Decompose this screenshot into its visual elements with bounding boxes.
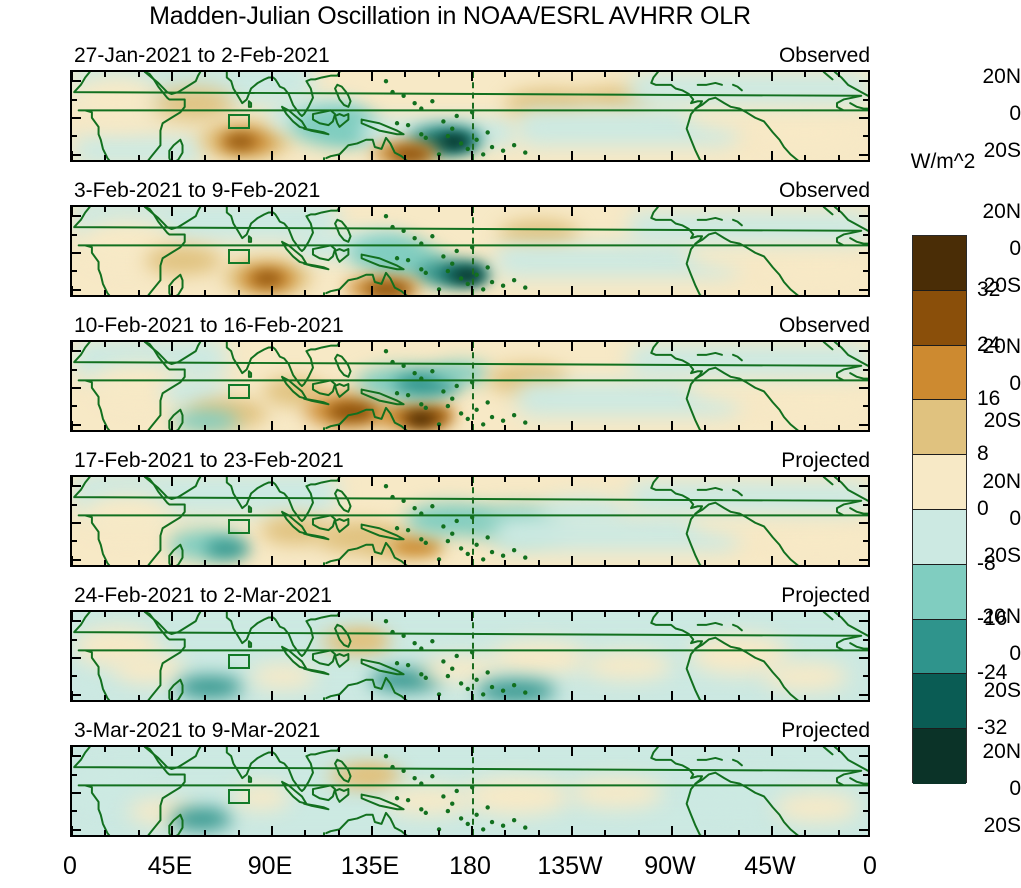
anomaly-blob [772,521,861,554]
x-axis-tick [271,342,273,351]
x-axis-tick [471,826,473,835]
y-axis-tick-label: 0 [957,102,1021,126]
x-axis-tick [204,155,206,160]
x-axis-tick [471,72,473,81]
x-axis-tick [238,72,240,77]
y-axis-tick [72,485,81,487]
x-axis-tick [571,747,573,756]
y-axis-tick [72,289,81,291]
anomaly-blob [392,539,441,556]
x-axis-tick [304,830,306,835]
anomaly-blob [72,765,152,805]
x-axis-tick [404,207,406,212]
y-axis-tick [859,350,868,352]
x-axis-tick [738,695,740,700]
x-axis-tick [604,425,606,430]
x-axis-tick [504,830,506,835]
x-axis-tick [604,290,606,295]
x-axis-tick [538,747,540,752]
x-axis-tick [104,342,106,347]
colorbar-band [913,400,966,455]
anomaly-blob [341,632,381,647]
x-axis-tick [438,155,440,160]
y-axis-tick [72,620,81,622]
x-axis-tick [104,747,106,752]
x-axis-tick [438,695,440,700]
x-axis-tick [238,342,240,347]
map-panel[interactable] [70,70,870,162]
y-axis-tick [72,675,77,677]
y-axis-tick [72,540,77,542]
x-axis-tick [338,72,340,77]
x-axis-tick [304,72,306,77]
x-axis-tick [271,747,273,756]
x-axis-tick [604,477,606,482]
y-axis-tick [72,350,81,352]
x-axis-tick [504,290,506,295]
y-axis-tick [72,810,77,812]
x-axis-tick [671,826,673,835]
y-axis-tick [72,694,81,696]
x-axis-tick [171,342,173,351]
x-axis-tick [271,207,273,216]
y-axis-tick [863,504,868,506]
x-axis-tick [771,477,773,486]
x-axis-tick [838,830,840,835]
x-axis-tick [371,612,373,621]
x-axis-tick [504,747,506,752]
x-axis-tick [504,477,506,482]
x-axis-tick [604,830,606,835]
x-axis-tick [571,342,573,351]
x-axis-tick [671,612,673,621]
colorbar-group: W/m^2 32241680-8-16-24-32 [893,150,1021,810]
x-axis-tick [638,747,640,752]
x-axis-tick [138,747,140,752]
y-axis-tick [72,657,81,659]
y-axis-tick [859,424,868,426]
y-axis-tick [863,675,868,677]
x-axis-tick [338,747,340,752]
y-axis-tick [863,99,868,101]
y-axis-tick [72,829,81,831]
x-axis-tick [704,342,706,347]
x-axis-tick [704,72,706,77]
anomaly-blob [383,786,472,815]
x-axis-tick [338,425,340,430]
anomaly-blob [476,680,556,702]
y-axis-tick [72,270,77,272]
x-axis-tick [504,72,506,77]
anomaly-band [628,72,870,105]
map-panel[interactable] [70,340,870,432]
x-axis-tick [438,477,440,482]
x-axis-tick-label: 45E [148,852,192,881]
x-axis-tick [538,612,540,617]
y-axis-tick [72,755,81,757]
x-axis-tick [338,560,340,565]
y-axis-tick [72,405,77,407]
colorbar-band [913,291,966,346]
x-axis-tick [771,556,773,565]
x-axis-tick [104,477,106,482]
anomaly-blob [145,246,221,275]
x-axis-tick [704,425,706,430]
x-axis-tick [638,290,640,295]
x-axis-tick [271,477,273,486]
x-axis-tick [371,207,373,216]
x-axis-tick [538,207,540,212]
x-axis-tick [538,342,540,347]
x-axis-tick [138,477,140,482]
x-axis-tick [671,477,673,486]
x-axis-tick [271,826,273,835]
x-axis-tick [638,830,640,835]
x-axis-tick [138,830,140,835]
y-axis-tick [859,792,868,794]
x-axis-tick-label: 135E [341,852,399,881]
x-axis-tick [704,477,706,482]
x-axis-tick [704,155,706,160]
x-axis-tick [371,72,373,81]
x-axis-tick [238,477,240,482]
x-axis-tick [604,695,606,700]
x-axis-tick [371,691,373,700]
x-axis-tick [604,207,606,212]
x-axis-tick [204,695,206,700]
x-axis-tick [371,747,373,756]
y-axis-tick [859,694,868,696]
x-axis-tick [104,72,106,77]
x-axis-tick [304,695,306,700]
anomaly-blob [176,676,243,698]
x-axis-tick [338,830,340,835]
x-axis-tick [804,612,806,617]
x-axis-tick [771,691,773,700]
x-axis-tick [804,425,806,430]
x-axis-tick [204,477,206,482]
x-axis-tick [604,155,606,160]
x-axis-tick-label: 135W [537,852,602,881]
x-axis-tick [304,747,306,752]
x-axis-tick [738,747,740,752]
x-axis-tick [371,342,373,351]
x-axis-tick [171,826,173,835]
x-axis-tick [571,612,573,621]
x-axis-tick [471,421,473,430]
x-axis-tick [671,747,673,756]
x-axis-tick [171,72,173,81]
y-axis-tick [863,234,868,236]
x-axis-tick [604,72,606,77]
x-axis-tick [738,612,740,617]
x-axis-tick [338,207,340,212]
x-axis-tick [104,290,106,295]
x-axis-tick [704,695,706,700]
x-axis-tick [804,830,806,835]
dateline-180 [472,207,474,295]
x-axis-tick-label: 0 [63,852,77,881]
colorbar-tick-label: 24 [977,333,1000,357]
x-axis-tick [238,830,240,835]
anomaly-blob [570,778,663,807]
x-axis-tick [538,425,540,430]
x-axis-tick [238,612,240,617]
x-axis-tick [538,560,540,565]
y-axis-tick [72,369,77,371]
x-axis-tick [404,155,406,160]
x-axis-tick [138,560,140,565]
y-axis-tick [859,829,868,831]
anomaly-blob [350,767,390,782]
x-axis-tick [671,151,673,160]
y-axis-tick [72,135,77,137]
x-axis-tick [204,425,206,430]
x-axis-tick [471,286,473,295]
anomaly-blob [690,769,788,809]
x-axis-tick [338,695,340,700]
colorbar-band [913,674,966,729]
x-axis-tick [371,286,373,295]
y-axis-tick [859,387,868,389]
x-axis-tick [838,290,840,295]
x-axis-tick [438,72,440,77]
anomaly-band [628,211,870,244]
x-axis-tick [138,612,140,617]
panel-status-label: Observed [779,44,870,68]
x-axis-tick [171,556,173,565]
x-axis-tick [438,747,440,752]
x-axis-tick [404,560,406,565]
anomaly-blob [72,76,161,124]
x-axis-tick [238,155,240,160]
x-axis-tick [204,207,206,212]
x-axis-tick [404,695,406,700]
y-axis-tick [863,135,868,137]
x-axis-tick [138,695,140,700]
anomaly-blob [154,87,234,120]
x-axis-tick [471,747,473,756]
x-axis-tick [738,155,740,160]
x-axis-tick [671,207,673,216]
map-panel[interactable] [70,610,870,702]
figure-title: Madden-Julian Oscillation in NOAA/ESRL A… [0,2,900,31]
x-axis-tick [504,560,506,565]
x-axis-tick [638,425,640,430]
x-axis-tick [304,477,306,482]
x-axis-tick [138,207,140,212]
anomaly-blob [205,540,249,558]
x-axis-tick [404,477,406,482]
colorbar-tick-label: 32 [977,278,1000,302]
x-axis-tick [504,612,506,617]
x-axis-tick [238,290,240,295]
dateline-180 [472,72,474,160]
y-axis-tick [859,117,868,119]
x-axis-tick [338,342,340,347]
y-axis-tick [72,80,81,82]
x-axis-tick [171,477,173,486]
x-axis-tick [571,72,573,81]
x-axis-tick [438,830,440,835]
x-axis-tick [738,207,740,212]
study-region-box [228,519,250,534]
x-axis-tick [471,342,473,351]
x-axis-tick [771,747,773,756]
x-axis-tick [104,612,106,617]
x-axis-tick [271,556,273,565]
x-axis-tick [738,342,740,347]
x-axis-tick [271,691,273,700]
x-axis-tick [571,826,573,835]
x-axis-tick [704,747,706,752]
colorbar-tick-label: -24 [977,661,1007,685]
x-axis-tick [204,747,206,752]
x-axis-tick [604,560,606,565]
x-axis-tick [771,612,773,621]
x-axis-tick [271,72,273,81]
x-axis-tick [138,72,140,77]
x-axis-tick [438,342,440,347]
x-axis-tick [571,286,573,295]
y-axis-tick [863,810,868,812]
x-axis-tick [638,342,640,347]
x-axis-tick [171,612,173,621]
anomaly-blob [756,114,854,151]
x-axis-tick [238,560,240,565]
x-axis-tick [538,830,540,835]
x-axis-tick [804,477,806,482]
y-axis-tick [72,522,81,524]
y-axis-tick-label: 20S [957,814,1021,838]
x-axis-tick [838,477,840,482]
y-axis-tick [72,154,81,156]
x-axis-tick [404,342,406,347]
mjo-olr-figure: Madden-Julian Oscillation in NOAA/ESRL A… [0,0,1021,888]
x-axis-tick [504,695,506,700]
x-axis-tick [804,207,806,212]
y-axis-tick [72,234,77,236]
x-axis-tick [304,342,306,347]
x-axis-tick [371,151,373,160]
x-axis-tick [471,151,473,160]
colorbar-tick-label: -8 [977,552,996,576]
x-axis-tick [771,826,773,835]
y-axis-tick [859,252,868,254]
y-axis-tick [72,252,81,254]
x-axis-tick [404,830,406,835]
x-axis-tick [138,290,140,295]
x-axis-tick [138,425,140,430]
y-axis-tick [863,369,868,371]
x-axis-tick [638,207,640,212]
x-axis-tick [838,747,840,752]
x-axis-tick [538,477,540,482]
anomaly-band [628,344,870,377]
x-axis-tick [338,612,340,617]
y-axis-tick [863,540,868,542]
anomaly-blob [421,656,501,682]
colorbar-band [913,729,966,784]
x-axis-tick [671,691,673,700]
y-axis-tick [72,99,77,101]
x-axis-tick [571,691,573,700]
y-axis-tick [859,80,868,82]
panel-status-label: Observed [779,314,870,338]
x-axis-tick [471,612,473,621]
x-axis-tick [371,421,373,430]
y-axis-tick [863,639,868,641]
x-axis-tick [204,560,206,565]
x-axis-tick [304,290,306,295]
x-axis-tick [438,290,440,295]
study-region-box [228,249,250,264]
colorbar-tick-label: 16 [977,387,1000,411]
y-axis-tick [72,424,81,426]
x-axis-tick [771,421,773,430]
x-axis-tick [271,286,273,295]
x-axis-tick [404,425,406,430]
x-axis-tick [838,425,840,430]
x-axis-tick [238,747,240,752]
x-axis-tick [804,155,806,160]
map-panel[interactable] [70,745,870,837]
x-axis-tick [138,155,140,160]
x-axis-tick [738,72,740,77]
anomaly-blob [763,662,847,691]
x-axis-tick [771,151,773,160]
y-axis-tick [72,215,81,217]
x-axis-tick [771,72,773,81]
dateline-180 [472,612,474,700]
colorbar-tick-label: 8 [977,442,989,466]
x-axis-tick [804,560,806,565]
x-axis-tick [638,612,640,617]
x-axis-tick [771,207,773,216]
x-axis-tick [638,72,640,77]
colorbar-tick-label: 0 [977,497,989,521]
x-axis-tick [104,425,106,430]
colorbar-band [913,565,966,620]
anomaly-blob [408,414,435,425]
panel-status-label: Projected [781,584,870,608]
x-axis-tick [571,477,573,486]
y-axis-tick [72,387,81,389]
x-axis-tick [671,286,673,295]
x-axis-tick-label: 45W [744,852,795,881]
map-panel[interactable] [70,205,870,297]
x-axis-tick [338,477,340,482]
x-axis-tick [104,695,106,700]
colorbar [912,235,967,783]
x-axis-tick [271,612,273,621]
y-axis-tick [859,559,868,561]
dateline-180 [472,342,474,430]
x-axis-tick [838,612,840,617]
map-panel[interactable] [70,475,870,567]
panel-status-label: Projected [781,719,870,743]
x-axis-tick [471,477,473,486]
x-axis-tick [171,286,173,295]
x-axis-tick-label: 180 [449,852,491,881]
x-axis-tick [804,290,806,295]
x-axis-tick [438,560,440,565]
y-axis-tick [859,620,868,622]
colorbar-band [913,620,966,675]
anomaly-blob [114,654,185,683]
x-axis-tick [671,72,673,81]
y-axis-tick [859,215,868,217]
